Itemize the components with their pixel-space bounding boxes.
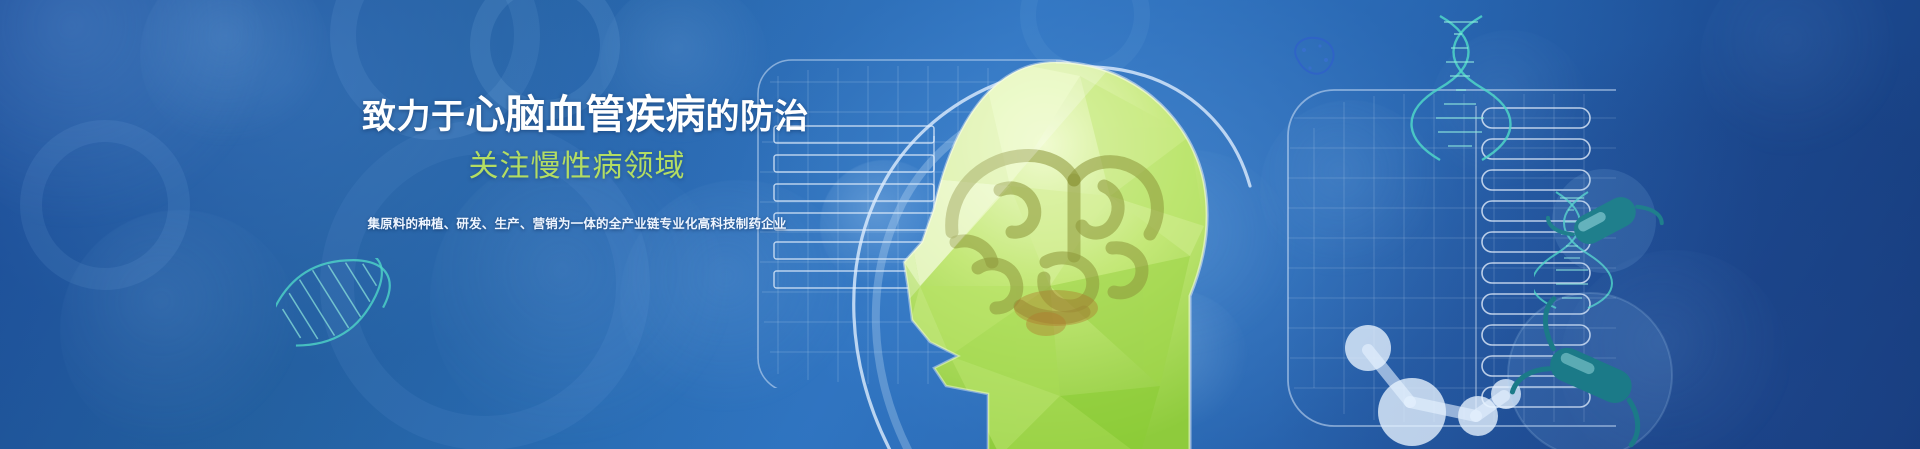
bokeh-circle xyxy=(1086,150,1296,360)
headline-suffix: 的防治 xyxy=(706,98,810,136)
bokeh-circle xyxy=(1260,100,1440,280)
company-tagline: 集原料的种植、研发、生产、营销为一体的全产业链专业化高科技制药企业 xyxy=(362,213,792,232)
head-halo-arc xyxy=(836,36,1256,449)
bacteria-cell-top xyxy=(1544,166,1664,276)
page-title: 致力于心脑血管疾病的防治 xyxy=(362,92,792,139)
headline-prefix: 致力于 xyxy=(362,98,466,136)
brain-overlay xyxy=(952,156,1158,318)
bokeh-circle xyxy=(1560,250,1790,449)
dna-helix-left xyxy=(276,258,396,350)
hud-right-panel xyxy=(1286,88,1616,428)
hud-right-bars xyxy=(1482,108,1590,407)
particle-scatter xyxy=(1280,30,1370,100)
molecule-structure xyxy=(1326,320,1546,449)
dna-helix-right xyxy=(1534,190,1614,310)
science-artwork xyxy=(0,0,1920,449)
bokeh-circle xyxy=(140,0,330,150)
bokeh-circle xyxy=(820,160,950,290)
bokeh-circle xyxy=(60,210,300,449)
bokeh-ring xyxy=(1020,0,1150,80)
dna-helix-top xyxy=(1410,12,1520,162)
brain-stem xyxy=(1014,290,1098,336)
low-poly-head xyxy=(860,56,1260,449)
hud-left-bars xyxy=(774,126,934,288)
page-subtitle: 关注慢性病领域 xyxy=(362,149,792,185)
headline-emphasis: 心脑血管疾病 xyxy=(466,93,706,137)
bokeh-ring xyxy=(20,120,190,290)
hero-banner: 致力于心脑血管疾病的防治 关注慢性病领域 集原料的种植、研发、生产、营销为一体的… xyxy=(0,0,1920,449)
bacteria-cell-bottom xyxy=(1500,290,1680,449)
bokeh-circle xyxy=(0,0,270,240)
bokeh-circle xyxy=(1430,30,1590,190)
bokeh-circle xyxy=(1700,0,1900,160)
banner-copy: 致力于心脑血管疾病的防治 关注慢性病领域 集原料的种植、研发、生产、营销为一体的… xyxy=(362,92,792,232)
bokeh-circle xyxy=(1100,290,1250,440)
